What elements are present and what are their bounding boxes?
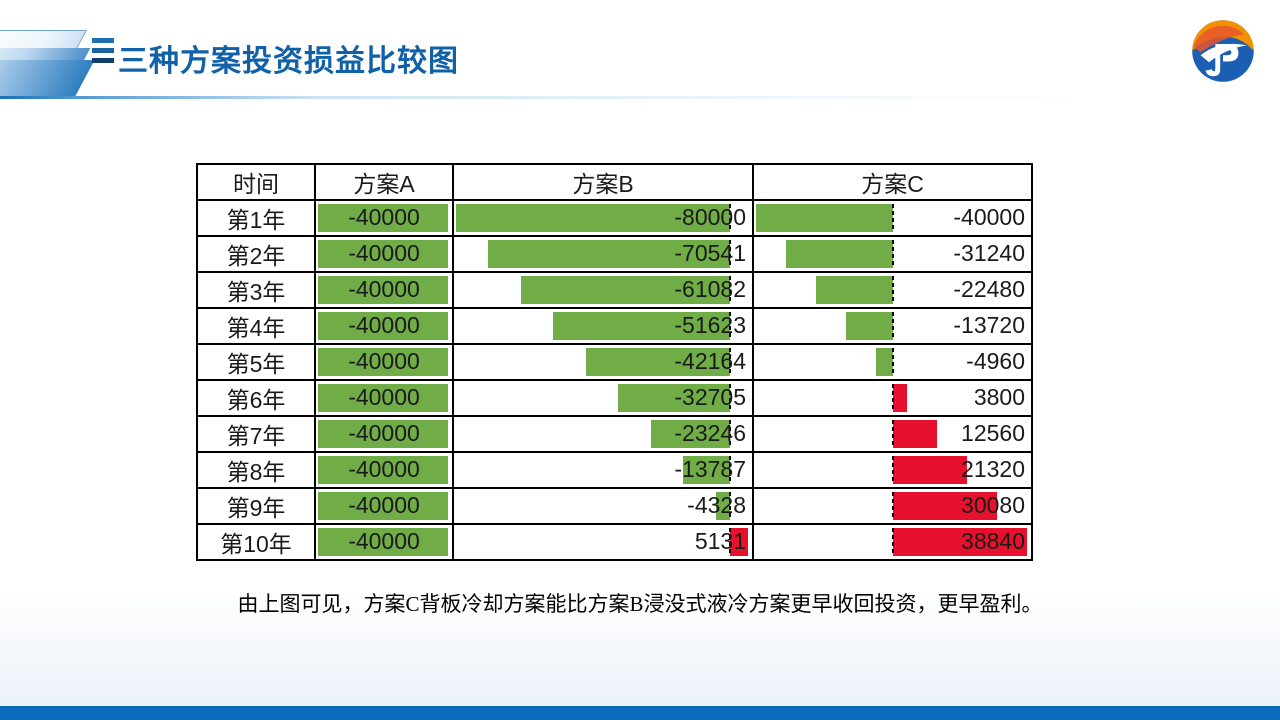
cell-value: 30080 (754, 489, 1031, 523)
databar-cell-plan-b: 5131 (453, 524, 753, 560)
cell-value: -32705 (454, 381, 752, 415)
databar-cell-plan-b: -32705 (453, 380, 753, 416)
cell-value: -51623 (454, 309, 752, 343)
cell-value: -23246 (454, 417, 752, 451)
cell-value: -4328 (454, 489, 752, 523)
databar-cell-plan-c: -4960 (753, 344, 1032, 380)
table-row: 第2年-40000-70541-31240 (197, 236, 1032, 272)
cell-value: 3800 (754, 381, 1031, 415)
databar-cell-plan-c: 30080 (753, 488, 1032, 524)
table-row: 第6年-40000-327053800 (197, 380, 1032, 416)
decor-parallelogram-dark (0, 60, 95, 96)
row-label-year: 第6年 (197, 380, 315, 416)
databar-cell-plan-b: -80000 (453, 200, 753, 236)
table-row: 第10年-40000513138840 (197, 524, 1032, 560)
row-label-year: 第7年 (197, 416, 315, 452)
databar-cell-plan-b: -42164 (453, 344, 753, 380)
company-logo-icon (1188, 16, 1258, 86)
header-divider (0, 96, 1280, 99)
slide-canvas: 三种方案投资损益比较图 时间 方案A 方案B 方案C 第1年-40000-800… (0, 0, 1280, 720)
cell-value: -40000 (316, 489, 452, 523)
databar-cell-plan-b: -51623 (453, 308, 753, 344)
cell-value: -42164 (454, 345, 752, 379)
cell-value: -4960 (754, 345, 1031, 379)
row-label-year: 第3年 (197, 272, 315, 308)
databar-cell-plan-b: -4328 (453, 488, 753, 524)
databar-cell-plan-a: -40000 (315, 344, 453, 380)
row-label-year: 第8年 (197, 452, 315, 488)
databar-cell-plan-a: -40000 (315, 488, 453, 524)
databar-cell-plan-c: -40000 (753, 200, 1032, 236)
column-header-plan-b: 方案B (453, 164, 753, 200)
databar-cell-plan-a: -40000 (315, 236, 453, 272)
cell-value: -31240 (754, 237, 1031, 271)
page-title: 三种方案投资损益比较图 (118, 36, 459, 80)
table-body: 第1年-40000-80000-40000第2年-40000-70541-312… (197, 200, 1032, 560)
cell-value: -40000 (316, 345, 452, 379)
databar-cell-plan-c: -13720 (753, 308, 1032, 344)
databar-cell-plan-c: -22480 (753, 272, 1032, 308)
column-header-plan-c: 方案C (753, 164, 1032, 200)
cell-value: -40000 (316, 309, 452, 343)
table-row: 第1年-40000-80000-40000 (197, 200, 1032, 236)
cell-value: -40000 (316, 453, 452, 487)
databar-cell-plan-a: -40000 (315, 380, 453, 416)
footer-bar (0, 706, 1280, 720)
cell-value: 12560 (754, 417, 1031, 451)
table-row: 第9年-40000-432830080 (197, 488, 1032, 524)
table-row: 第3年-40000-61082-22480 (197, 272, 1032, 308)
row-label-year: 第10年 (197, 524, 315, 560)
cell-value: -80000 (454, 201, 752, 235)
databar-cell-plan-a: -40000 (315, 524, 453, 560)
cell-value: -13787 (454, 453, 752, 487)
cell-value: -13720 (754, 309, 1031, 343)
cell-value: -22480 (754, 273, 1031, 307)
databar-cell-plan-a: -40000 (315, 452, 453, 488)
cell-value: -40000 (316, 273, 452, 307)
row-label-year: 第1年 (197, 200, 315, 236)
cell-value: -40000 (316, 237, 452, 271)
databar-cell-plan-a: -40000 (315, 200, 453, 236)
cell-value: 5131 (454, 525, 752, 559)
investment-comparison-table: 时间 方案A 方案B 方案C 第1年-40000-80000-40000第2年-… (196, 163, 1033, 561)
cell-value: -40000 (316, 381, 452, 415)
databar-cell-plan-c: 21320 (753, 452, 1032, 488)
row-label-year: 第4年 (197, 308, 315, 344)
cell-value: 21320 (754, 453, 1031, 487)
databar-cell-plan-c: 3800 (753, 380, 1032, 416)
table-header-row: 时间 方案A 方案B 方案C (197, 164, 1032, 200)
databar-cell-plan-b: -23246 (453, 416, 753, 452)
databar-cell-plan-b: -13787 (453, 452, 753, 488)
table-row: 第7年-40000-2324612560 (197, 416, 1032, 452)
table-row: 第4年-40000-51623-13720 (197, 308, 1032, 344)
cell-value: 38840 (754, 525, 1031, 559)
cell-value: -70541 (454, 237, 752, 271)
table-row: 第5年-40000-42164-4960 (197, 344, 1032, 380)
row-label-year: 第2年 (197, 236, 315, 272)
cell-value: -40000 (316, 201, 452, 235)
table-row: 第8年-40000-1378721320 (197, 452, 1032, 488)
databar-cell-plan-b: -70541 (453, 236, 753, 272)
databar-cell-plan-c: 38840 (753, 524, 1032, 560)
row-label-year: 第9年 (197, 488, 315, 524)
column-header-plan-a: 方案A (315, 164, 453, 200)
databar-cell-plan-a: -40000 (315, 416, 453, 452)
cell-value: -61082 (454, 273, 752, 307)
column-header-time: 时间 (197, 164, 315, 200)
cell-value: -40000 (316, 417, 452, 451)
cell-value: -40000 (754, 201, 1031, 235)
databar-cell-plan-c: -31240 (753, 236, 1032, 272)
databar-cell-plan-a: -40000 (315, 308, 453, 344)
databar-cell-plan-b: -61082 (453, 272, 753, 308)
slide-caption: 由上图可见，方案C背板冷却方案能比方案B浸没式液冷方案更早收回投资，更早盈利。 (0, 588, 1280, 618)
databar-cell-plan-a: -40000 (315, 272, 453, 308)
cell-value: -40000 (316, 525, 452, 559)
databar-cell-plan-c: 12560 (753, 416, 1032, 452)
decor-bar-stack-icon (92, 38, 114, 68)
row-label-year: 第5年 (197, 344, 315, 380)
